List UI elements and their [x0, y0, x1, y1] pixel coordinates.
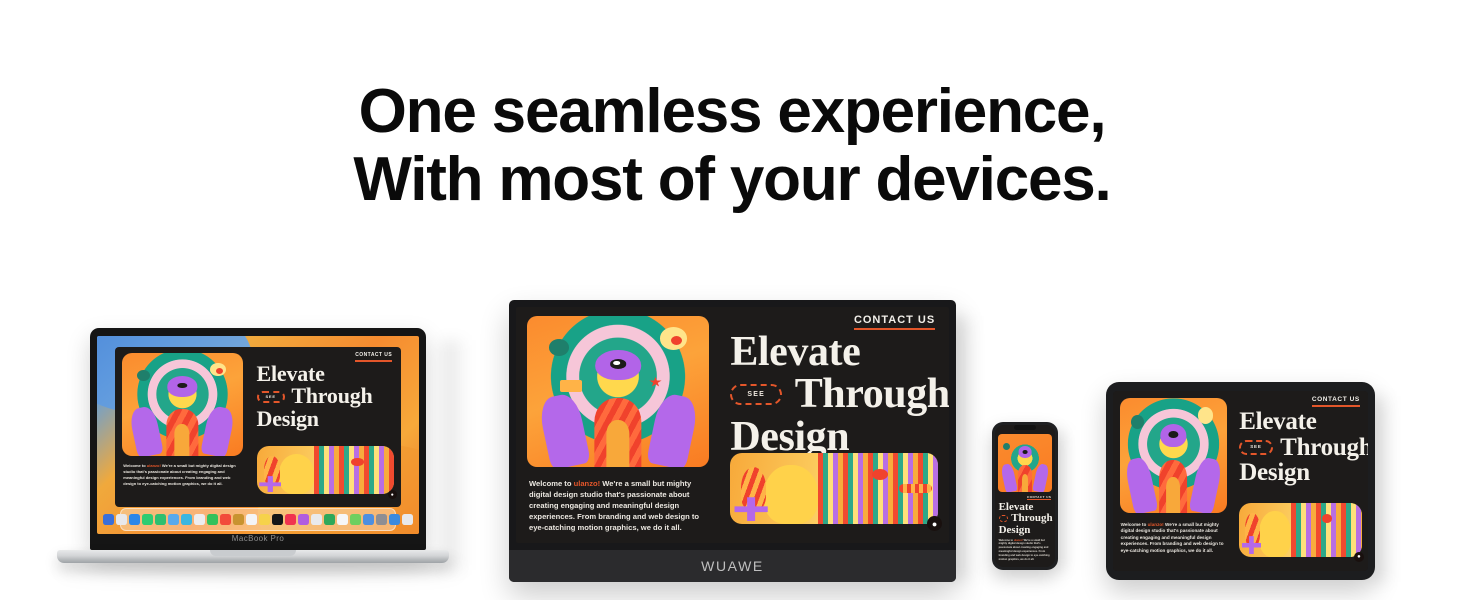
eye-pupil: [1168, 431, 1178, 438]
intro-welcome: Welcome to: [529, 479, 574, 488]
dock-icon-13[interactable]: [272, 514, 283, 525]
page-title: One seamless experience, With most of yo…: [0, 78, 1464, 214]
dock-icon-0[interactable]: [103, 514, 114, 525]
dock-icon-17[interactable]: [324, 514, 335, 525]
intro-paragraph: Welcome to ulanzo! We're a small but mig…: [123, 463, 240, 486]
stripe-pattern: [314, 446, 394, 494]
tablet-body: CONTACT US Welc: [1106, 382, 1375, 580]
dock-icon-22[interactable]: [389, 514, 400, 525]
rope-arch: [1018, 465, 1032, 492]
dock-icon-9[interactable]: [220, 514, 231, 525]
brand-name: ulanzo!: [1148, 522, 1164, 527]
site-page: CONTACT US Welc: [1113, 391, 1368, 571]
headline-line-1: One seamless experience,: [359, 77, 1106, 146]
heading-line-1: Elevate: [257, 363, 397, 385]
art-planet: [1131, 415, 1144, 429]
secondary-illustration: [257, 446, 395, 494]
monitor-brand-label: WUAWE: [701, 558, 764, 574]
device-tablet[interactable]: CONTACT US Welc: [1106, 382, 1375, 580]
macbook-browser-page[interactable]: CONTACT US: [115, 347, 402, 507]
hero-illustration: [1120, 398, 1227, 513]
macbook-brand-label: MacBook Pro: [90, 534, 426, 543]
contact-us-link[interactable]: CONTACT US: [355, 352, 392, 362]
eye-pupil: [178, 383, 188, 388]
macos-dock[interactable]: [120, 508, 397, 531]
heading-line-3: Design: [1239, 460, 1364, 486]
hero-heading: Elevate SEE Through Design: [730, 331, 942, 459]
rope-arch: [1159, 460, 1187, 513]
art-card: [560, 380, 582, 392]
monitor-chin: WUAWE: [509, 550, 956, 582]
heading-line-2: Through: [291, 385, 372, 407]
device-monitor[interactable]: CONTACT US: [509, 300, 956, 582]
monitor-screen[interactable]: CONTACT US: [516, 307, 949, 543]
dock-icon-19[interactable]: [350, 514, 361, 525]
secondary-illustration: [1239, 503, 1361, 557]
cookie-badge-icon[interactable]: ●: [388, 490, 397, 499]
dock-icon-15[interactable]: [298, 514, 309, 525]
brand-name: ulanzo!: [147, 463, 161, 468]
dock-icon-8[interactable]: [207, 514, 218, 525]
hero-heading: Elevate SEE Through Design: [257, 363, 397, 430]
rope-arch: [595, 398, 642, 467]
contact-us-link[interactable]: CONTACT US: [1027, 495, 1051, 500]
headline-line-2: With most of your devices.: [0, 146, 1464, 214]
dock-icon-3[interactable]: [142, 514, 153, 525]
eye-head: [596, 350, 641, 381]
heading-line-2: Through: [795, 373, 949, 416]
art-ball: [216, 368, 223, 374]
see-badge[interactable]: [999, 515, 1009, 522]
dock-icon-5[interactable]: [168, 514, 179, 525]
dock-icon-2[interactable]: [129, 514, 140, 525]
site-page: CONTACT US: [115, 347, 402, 507]
secondary-illustration: [730, 453, 938, 524]
hero-illustration: [998, 434, 1052, 492]
dock-icon-21[interactable]: [376, 514, 387, 525]
creature-figure-icon: [1259, 511, 1291, 556]
hero-illustration: [122, 353, 242, 456]
see-badge[interactable]: SEE: [730, 384, 782, 405]
heading-row-2: SEE Through: [1239, 435, 1364, 461]
macbook-lid: CONTACT US: [90, 328, 426, 550]
phone-notch: [1014, 425, 1036, 430]
device-macbook[interactable]: CONTACT US: [57, 328, 449, 568]
phone-screen[interactable]: CONTACT US Elevate Through Design Welcom…: [995, 425, 1055, 567]
dock-icon-6[interactable]: [181, 514, 192, 525]
phone-body: CONTACT US Elevate Through Design Welcom…: [992, 422, 1058, 570]
tablet-screen[interactable]: CONTACT US Welc: [1113, 391, 1368, 571]
intro-paragraph: Welcome to ulanzo! We're a small but mig…: [999, 539, 1052, 562]
intro-welcome: Welcome to: [1121, 522, 1148, 527]
macbook-screen[interactable]: CONTACT US: [97, 336, 419, 534]
intro-paragraph: Welcome to ulanzo! We're a small but mig…: [1121, 522, 1226, 555]
contact-us-link[interactable]: CONTACT US: [854, 314, 935, 330]
page-root: One seamless experience, With most of yo…: [0, 0, 1464, 600]
cookie-badge-icon[interactable]: ●: [927, 516, 942, 531]
dock-icon-20[interactable]: [363, 514, 374, 525]
device-phone[interactable]: CONTACT US Elevate Through Design Welcom…: [992, 422, 1058, 570]
contact-us-link[interactable]: CONTACT US: [1312, 396, 1360, 407]
art-ball: [671, 336, 682, 345]
intro-welcome: Welcome to: [123, 463, 147, 468]
heading-row-2: SEE Through: [257, 385, 397, 407]
creature-figure-icon: [279, 454, 315, 494]
eye-highlight: [614, 361, 620, 365]
heading-line-2: Through: [1280, 435, 1368, 461]
heading-line-1: Elevate: [730, 331, 942, 374]
art-moon: [1198, 407, 1213, 423]
dock-icon-1[interactable]: [116, 514, 127, 525]
hero-illustration: [527, 316, 709, 467]
dock-icon-10[interactable]: [233, 514, 244, 525]
creature-figure-icon: [764, 465, 818, 524]
dock-icon-11[interactable]: [246, 514, 257, 525]
eye-head: [1018, 446, 1031, 458]
art-baton: [899, 484, 932, 492]
hero-heading: Elevate Through Design: [999, 502, 1053, 537]
see-badge[interactable]: SEE: [257, 391, 285, 403]
macbook-notch: [210, 550, 296, 556]
art-planet: [137, 370, 150, 381]
intro-paragraph: Welcome to ulanzo! We're a small but mig…: [529, 478, 707, 533]
dock-icon-16[interactable]: [311, 514, 322, 525]
dock-icon-12[interactable]: [259, 514, 270, 525]
dock-icon-23[interactable]: [402, 514, 413, 525]
heading-line-1: Elevate: [1239, 409, 1364, 435]
see-badge[interactable]: SEE: [1239, 440, 1272, 455]
dock-icon-14[interactable]: [285, 514, 296, 525]
dock-icon-4[interactable]: [155, 514, 166, 525]
intro-body: We're a small but mighty digital design …: [999, 539, 1050, 561]
eye-head: [1160, 424, 1187, 447]
art-planet: [1003, 443, 1010, 450]
heading-line-3: Design: [999, 525, 1053, 537]
monitor-bezel: CONTACT US: [509, 300, 956, 582]
site-page: CONTACT US: [516, 307, 949, 543]
dock-icon-18[interactable]: [337, 514, 348, 525]
art-red-ball: [351, 458, 363, 466]
dock-icon-7[interactable]: [194, 514, 205, 525]
hero-heading: Elevate SEE Through Design: [1239, 409, 1364, 486]
heading-line-3: Design: [257, 408, 397, 430]
art-planet: [549, 339, 569, 356]
rope-arch: [167, 409, 198, 456]
heading-row-2: SEE Through: [730, 373, 942, 416]
eye-pupil: [1023, 450, 1028, 454]
brand-name: ulanzo!: [574, 479, 601, 488]
cookie-badge-icon[interactable]: ●: [1354, 552, 1364, 562]
stripe-pattern: [1291, 503, 1362, 557]
eye-head: [167, 376, 197, 397]
